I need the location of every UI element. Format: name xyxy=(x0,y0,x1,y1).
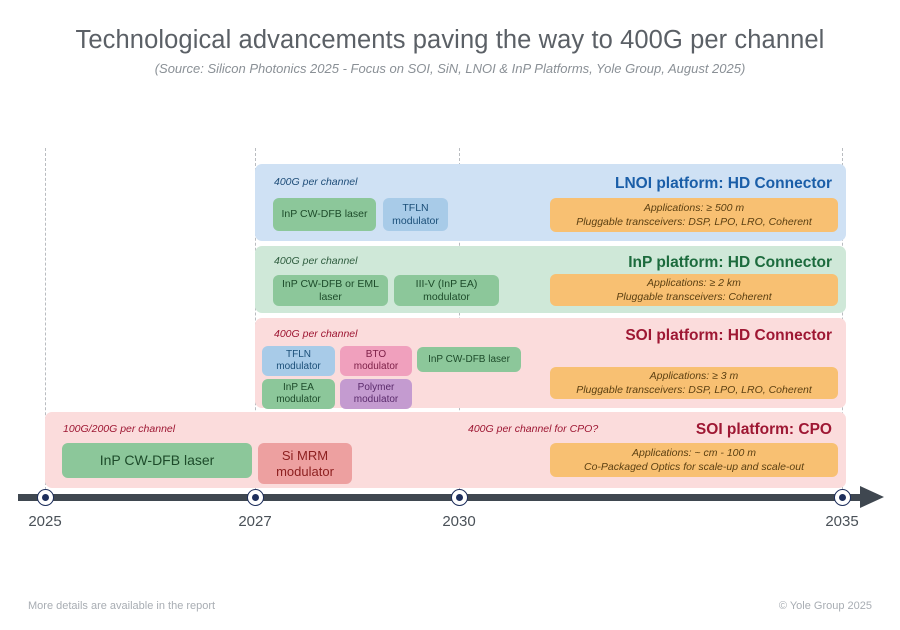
page-title: Technological advancements paving the wa… xyxy=(0,26,900,55)
chip-tfln-modulator[interactable]: TFLN modulator xyxy=(262,346,335,376)
timeline-node-2035[interactable] xyxy=(834,489,851,506)
chip-si-mrm-modulator[interactable]: Si MRM modulator xyxy=(258,443,352,484)
timeline-year-2030: 2030 xyxy=(424,513,494,530)
application-box-soi-cpo: Applications: ~ cm - 100 m Co-Packaged O… xyxy=(550,443,838,477)
application-box-lnoi: Applications: ≥ 500 m Pluggable transcei… xyxy=(550,198,838,232)
band-heading-soi-cpo: SOI platform: CPO xyxy=(696,421,832,439)
rate-label-inp: 400G per channel xyxy=(274,255,357,267)
chip-inp-cw-dfb-or-eml-laser[interactable]: InP CW-DFB or EML laser xyxy=(273,275,388,306)
application-line-2: Pluggable transceivers: DSP, LPO, LRO, C… xyxy=(576,215,812,229)
band-heading-lnoi: LNOI platform: HD Connector xyxy=(615,175,832,193)
application-line-1: Applications: ≥ 3 m xyxy=(650,369,739,383)
timeline-node-2030[interactable] xyxy=(451,489,468,506)
chip-bto-modulator[interactable]: BTO modulator xyxy=(340,346,412,376)
band-inp-platform[interactable]: 400G per channel InP platform: HD Connec… xyxy=(255,246,846,313)
application-line-1: Applications: ≥ 2 km xyxy=(647,276,741,290)
rate-label-soi-hd: 400G per channel xyxy=(274,328,357,340)
application-box-inp: Applications: ≥ 2 km Pluggable transceiv… xyxy=(550,274,838,306)
page-subtitle: (Source: Silicon Photonics 2025 - Focus … xyxy=(0,61,900,76)
chip-iii-v-inp-ea-modulator[interactable]: III-V (InP EA) modulator xyxy=(394,275,499,306)
application-line-1: Applications: ≥ 500 m xyxy=(644,201,744,215)
application-line-2: Co-Packaged Optics for scale-up and scal… xyxy=(584,460,804,474)
infographic-canvas: Technological advancements paving the wa… xyxy=(0,0,900,630)
timeline-node-2027[interactable] xyxy=(247,489,264,506)
chip-inp-cw-dfb-laser[interactable]: InP CW-DFB laser xyxy=(417,347,521,372)
chip-tfln-modulator[interactable]: TFLN modulator xyxy=(383,198,448,231)
band-heading-soi-hd: SOI platform: HD Connector xyxy=(625,327,832,345)
chip-inp-cw-dfb-laser[interactable]: InP CW-DFB laser xyxy=(62,443,252,478)
rate-label-lnoi: 400G per channel xyxy=(274,176,357,188)
application-line-1: Applications: ~ cm - 100 m xyxy=(632,446,756,460)
rate-label-cpo-right: 400G per channel for CPO? xyxy=(468,423,598,435)
timeline-node-2025[interactable] xyxy=(37,489,54,506)
timeline-year-2025: 2025 xyxy=(10,513,80,530)
band-heading-inp: InP platform: HD Connector xyxy=(628,254,832,272)
application-line-2: Pluggable transceivers: DSP, LPO, LRO, C… xyxy=(576,383,812,397)
timeline-year-2027: 2027 xyxy=(220,513,290,530)
timeline-axis xyxy=(18,494,864,501)
application-line-2: Pluggable transceivers: Coherent xyxy=(616,290,771,304)
footer-note: More details are available in the report xyxy=(28,600,215,612)
footer-copyright: © Yole Group 2025 xyxy=(779,600,872,612)
band-lnoi-platform[interactable]: 400G per channel LNOI platform: HD Conne… xyxy=(255,164,846,241)
chip-inp-cw-dfb-laser[interactable]: InP CW-DFB laser xyxy=(273,198,376,231)
rate-label-cpo-left: 100G/200G per channel xyxy=(63,423,175,435)
application-box-soi-hd: Applications: ≥ 3 m Pluggable transceive… xyxy=(550,367,838,399)
band-soi-hd-connector[interactable]: 400G per channel SOI platform: HD Connec… xyxy=(255,318,846,408)
chip-polymer-modulator[interactable]: Polymer modulator xyxy=(340,379,412,409)
timeline-arrow-icon xyxy=(860,486,884,508)
timeline-year-2035: 2035 xyxy=(807,513,877,530)
band-soi-cpo[interactable]: 100G/200G per channel 400G per channel f… xyxy=(45,412,846,488)
chip-inp-ea-modulator[interactable]: InP EA modulator xyxy=(262,379,335,409)
